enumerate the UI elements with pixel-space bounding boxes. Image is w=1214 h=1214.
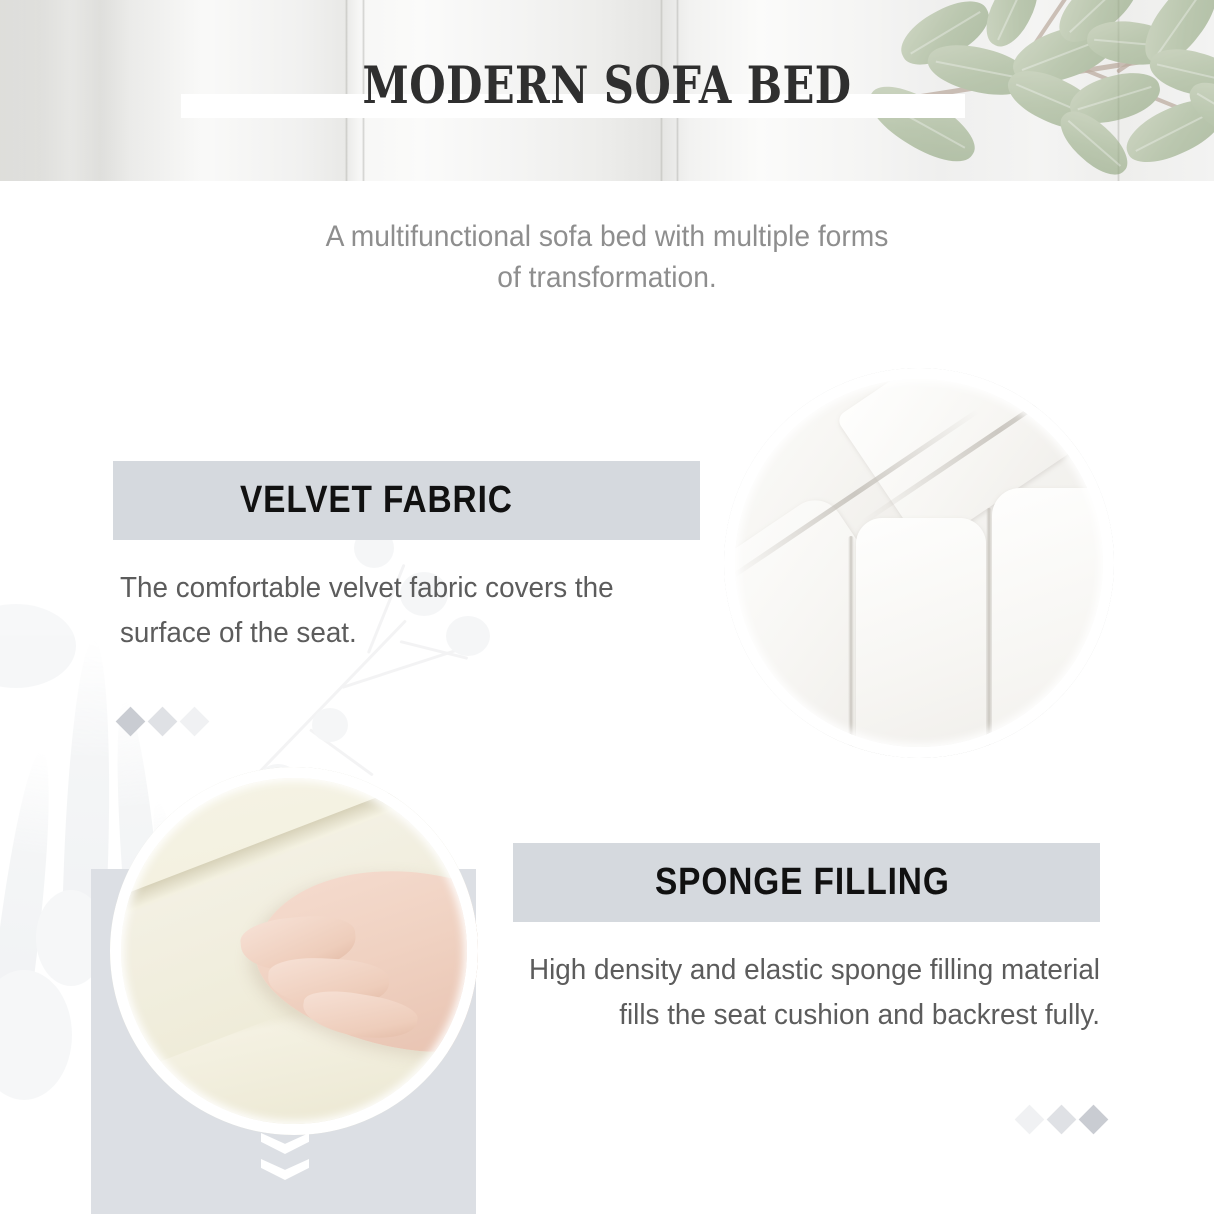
page-title: MODERN SOFA BED [109, 56, 1104, 116]
diamond-icon [1079, 1105, 1109, 1135]
product-infographic: MODERN SOFA BED A multifunctional sofa b… [0, 0, 1214, 1214]
diamond-icon [180, 707, 210, 737]
image-velvet-fabric [724, 368, 1114, 758]
diamond-decoration-left [120, 711, 205, 732]
chevron-down-decoration [261, 1133, 309, 1185]
diamond-icon [116, 707, 146, 737]
section-bar-velvet-fabric: VELVET FABRIC [113, 461, 700, 540]
header-banner: MODERN SOFA BED [0, 0, 1214, 181]
chevron-down-icon [261, 1159, 309, 1180]
diamond-icon [148, 707, 178, 737]
velvet-circle-ring [724, 368, 1114, 758]
section-title-sponge-filling: SPONGE FILLING [655, 861, 950, 904]
image-sponge-filling [110, 767, 478, 1135]
section-body-velvet-fabric: The comfortable velvet fabric covers the… [120, 566, 696, 656]
subtitle-line-2: of transformation. [231, 257, 983, 298]
section-body-sponge-filling: High density and elastic sponge filling … [524, 948, 1100, 1038]
sponge-circle-ring [110, 767, 478, 1135]
diamond-icon [1047, 1105, 1077, 1135]
diamond-decoration-right [1019, 1109, 1104, 1130]
section-title-velvet-fabric: VELVET FABRIC [240, 479, 513, 522]
section-bar-sponge-filling: SPONGE FILLING [513, 843, 1100, 922]
diamond-icon [1015, 1105, 1045, 1135]
chevron-down-icon [261, 1133, 309, 1154]
subtitle: A multifunctional sofa bed with multiple… [231, 216, 983, 298]
subtitle-line-1: A multifunctional sofa bed with multiple… [231, 216, 983, 257]
